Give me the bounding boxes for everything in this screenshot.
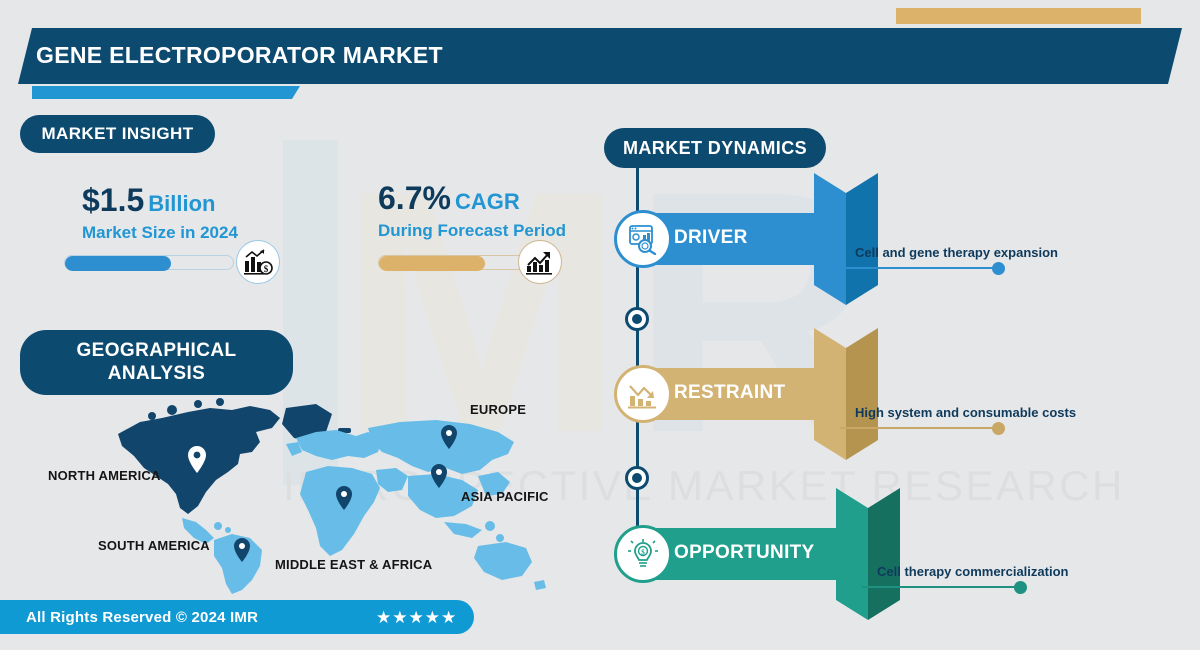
stat-market-size: $1.5Billion Market Size in 2024 — [82, 182, 238, 243]
map-label-south-america: SOUTH AMERICA — [98, 538, 210, 553]
driver-callout-text: Cell and gene therapy expansion — [855, 245, 1058, 260]
market-size-progress-track — [64, 255, 234, 270]
stat-cagr-unit: CAGR — [455, 189, 520, 214]
dynamics-row-opportunity[interactable]: $ OPPORTUNITY — [614, 528, 886, 580]
growth-arrow-chart-icon — [518, 240, 562, 284]
map-label-north-america: NORTH AMERICA — [48, 468, 161, 483]
bar-chart-dollar-icon: $ — [236, 240, 280, 284]
geo-pill-line1: GEOGRAPHICAL — [77, 340, 237, 363]
restraint-label: RESTRAINT — [674, 382, 785, 404]
opportunity-callout-dot — [1014, 581, 1027, 594]
stat-cagr-caption: During Forecast Period — [378, 221, 566, 241]
analytics-search-icon — [614, 210, 672, 268]
restraint-callout-text: High system and consumable costs — [855, 405, 1076, 420]
header-underline-accent — [32, 86, 300, 99]
driver-callout-dot — [992, 262, 1005, 275]
stat-market-size-unit: Billion — [148, 191, 215, 216]
page-title: GENE ELECTROPORATOR MARKET — [36, 42, 443, 69]
map-label-europe: EUROPE — [470, 402, 526, 417]
map-label-asia-pacific: ASIA PACIFIC — [461, 489, 549, 504]
spine-node-1 — [625, 307, 649, 331]
dynamics-row-driver[interactable]: DRIVER — [614, 213, 864, 265]
top-gold-accent-bar — [896, 8, 1141, 24]
stat-market-size-caption: Market Size in 2024 — [82, 223, 238, 243]
svg-text:$: $ — [641, 549, 645, 557]
market-size-progress-fill — [65, 256, 171, 271]
dynamics-row-restraint[interactable]: RESTRAINT — [614, 368, 864, 420]
stat-cagr: 6.7%CAGR During Forecast Period — [378, 180, 566, 241]
stat-market-size-value: $1.5Billion — [82, 182, 238, 219]
declining-bar-chart-icon — [614, 365, 672, 423]
stat-market-size-number: $1.5 — [82, 182, 144, 218]
driver-callout-line — [840, 267, 1000, 269]
restraint-callout-line — [840, 427, 1000, 429]
opportunity-callout-line — [862, 586, 1022, 588]
lightbulb-dollar-icon: $ — [614, 525, 672, 583]
stat-cagr-number: 6.7% — [378, 180, 451, 216]
opportunity-label: OPPORTUNITY — [674, 542, 815, 564]
market-insight-pill: MARKET INSIGHT — [20, 115, 215, 153]
market-dynamics-pill: MARKET DYNAMICS — [604, 128, 826, 168]
map-label-middle-east-africa: MIDDLE EAST & AFRICA — [275, 557, 432, 572]
stat-cagr-value: 6.7%CAGR — [378, 180, 566, 217]
geo-pill-line2: ANALYSIS — [77, 363, 237, 386]
opportunity-callout-text: Cell therapy commercialization — [877, 564, 1068, 579]
spine-node-2 — [625, 466, 649, 490]
driver-label: DRIVER — [674, 227, 748, 249]
restraint-callout-dot — [992, 422, 1005, 435]
footer-star-rating: ★★★★★ — [376, 608, 457, 628]
cagr-progress-fill — [379, 256, 485, 271]
svg-text:$: $ — [264, 264, 269, 274]
geographical-analysis-pill: GEOGRAPHICAL ANALYSIS — [20, 330, 293, 395]
footer-copyright: All Rights Reserved © 2024 IMR — [26, 609, 258, 626]
